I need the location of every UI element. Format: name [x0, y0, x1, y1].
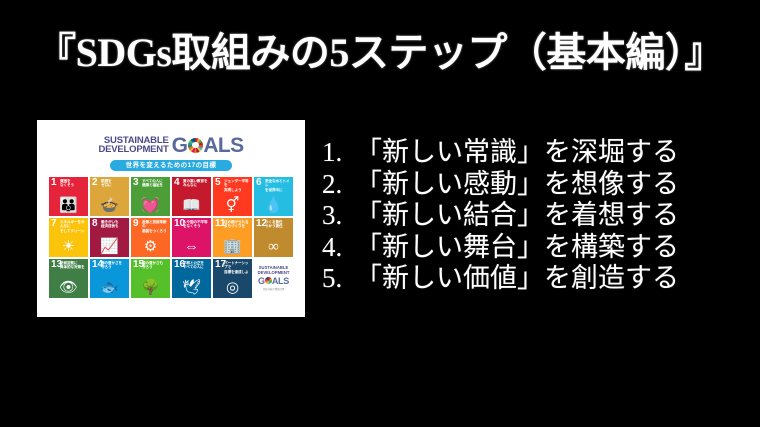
sdg-goal-17-icon: ◎ — [213, 280, 252, 296]
step-number: 3. — [322, 200, 355, 232]
step-text: 「新しい常識」を深堀する — [355, 137, 679, 169]
list-item: 4.「新しい舞台」を構築する — [322, 232, 722, 264]
page-title: 『SDGs取組みの5ステップ（基本編）』 — [0, 28, 760, 78]
step-number: 4. — [322, 232, 355, 264]
sdg-goal-number: 2 — [92, 178, 98, 188]
list-item: 2.「新しい感動」を想像する — [322, 169, 722, 201]
sdg-goal-13-icon: 👁 — [49, 280, 88, 296]
sdg-goal-title: すべての人に 健康と福祉を — [142, 179, 169, 188]
sdg-logo-tile-als: ALS — [272, 276, 289, 286]
sdg-goal-tile: 4質の高い教育を みんなに📖 — [172, 177, 211, 216]
step-text: 「新しい結合」を着想する — [355, 200, 679, 232]
sdg-logo-tile-fineprint: 持続可能な開発目標 — [263, 288, 285, 291]
sdg-goals-als: ALS — [203, 135, 243, 156]
sdg-goal-title: 働きがいも 経済成長も — [101, 220, 128, 229]
sdg-logo-wordmark: SUSTAINABLE DEVELOPMENT — [98, 136, 168, 155]
sdg-goal-title: 安全な水とトイレ を世界中に — [265, 179, 292, 192]
list-item: 1.「新しい常識」を深堀する — [322, 137, 722, 169]
sdg-goal-16-icon: 🕊 — [172, 280, 211, 296]
sdg-goal-title: 人や国の不平等 をなくそう — [183, 220, 210, 229]
step-text: 「新しい価値」を創造する — [355, 263, 679, 295]
sdg-goal-title: つくる責任 つかう責任 — [265, 220, 292, 229]
sdg-goal-title: 産業と技術革新の 基盤をつくろう — [142, 220, 169, 233]
sdg-goal-tile: 8働きがいも 経済成長も📈 — [90, 218, 129, 257]
sdg-goal-tile: 11住み続けられる まちづくりを🏢 — [213, 218, 252, 257]
sdg-goal-tile: 3すべての人に 健康と福祉を💓 — [131, 177, 170, 216]
sdg-goal-1-icon: 👪 — [49, 198, 88, 214]
sdg-goal-11-icon: 🏢 — [213, 239, 252, 255]
sdg-goal-title: エネルギーをみんなに そしてクリーンに — [60, 220, 87, 233]
sdg-goal-6-icon: 💧 — [254, 198, 293, 214]
sdg-goals-wordmark: G ALS — [172, 135, 244, 156]
sdg-logo: SUSTAINABLE DEVELOPMENT G ALS — [98, 134, 243, 156]
sdg-goal-tile: 14海の豊かさを 守ろう🐟 — [90, 259, 129, 298]
sdg-goal-title: 陸の豊かさも 守ろう — [142, 261, 169, 270]
sdg-goal-tile: 17パートナーシップで 目標を達成しよう◎ — [213, 259, 252, 298]
sdg-goal-tile: 10人や国の不平等 をなくそう⇔ — [172, 218, 211, 257]
sdg-goal-9-icon: ⚙ — [131, 239, 170, 255]
sdg-goal-tile: 12つくる責任 つかう責任∞ — [254, 218, 293, 257]
sdg-goal-title: 貧困を なくそう — [60, 179, 87, 188]
sdg-goal-4-icon: 📖 — [172, 198, 211, 214]
sdg-goal-tile: 13気候変動に 具体的な対策を👁 — [49, 259, 88, 298]
step-number: 2. — [322, 169, 355, 201]
sdg-poster-image: SUSTAINABLE DEVELOPMENT G ALS 世界を変えるための1… — [37, 120, 305, 317]
sdg-goal-grid: 1貧困を なくそう👪2飢餓を ゼロに🍲3すべての人に 健康と福祉を💓4質の高い教… — [49, 177, 293, 298]
step-text: 「新しい舞台」を構築する — [355, 232, 679, 264]
sdg-goals-g: G — [172, 135, 188, 156]
sdg-logo-tile: SUSTAINABLEDEVELOPMENTGALS持続可能な開発目標 — [254, 259, 293, 298]
sdg-goal-title: パートナーシップで 目標を達成しよう — [224, 261, 251, 274]
steps-list: 1.「新しい常識」を深堀する2.「新しい感動」を想像する3.「新しい結合」を着想… — [322, 137, 722, 295]
sdg-goal-title: 平和と公正を すべての人に — [183, 261, 210, 270]
sdg-goal-7-icon: ☀ — [49, 239, 88, 255]
sdg-goal-number: 8 — [92, 219, 98, 229]
sdg-goal-title: 質の高い教育を みんなに — [183, 179, 210, 188]
sdg-goal-8-icon: 📈 — [90, 239, 129, 255]
sdg-goal-title: 飢餓を ゼロに — [101, 179, 128, 188]
step-number: 5. — [322, 263, 355, 295]
sdg-goal-number: 4 — [174, 178, 180, 188]
sdg-goal-tile: 9産業と技術革新の 基盤をつくろう⚙ — [131, 218, 170, 257]
sdg-goal-title: 住み続けられる まちづくりを — [224, 220, 251, 229]
sdg-color-wheel-icon — [188, 138, 203, 153]
sdg-goal-number: 5 — [215, 178, 221, 188]
sdg-color-wheel-small-icon — [265, 277, 272, 284]
sdg-goal-15-icon: 🌳 — [131, 280, 170, 296]
sdg-logo-line2: DEVELOPMENT — [98, 145, 168, 155]
sdg-goal-title: 海の豊かさを 守ろう — [101, 261, 128, 270]
sdg-goal-tile: 7エネルギーをみんなに そしてクリーンに☀ — [49, 218, 88, 257]
list-item: 5.「新しい価値」を創造する — [322, 263, 722, 295]
sdg-goal-tile: 6安全な水とトイレ を世界中に💧 — [254, 177, 293, 216]
sdg-goal-12-icon: ∞ — [254, 239, 293, 255]
sdg-goal-number: 7 — [51, 219, 57, 229]
sdg-goal-title: 気候変動に 具体的な対策を — [60, 261, 87, 270]
sdg-goal-tile: 1貧困を なくそう👪 — [49, 177, 88, 216]
sdg-goal-3-icon: 💓 — [131, 198, 170, 214]
step-number: 1. — [322, 137, 355, 169]
sdg-goal-10-icon: ⇔ — [172, 239, 211, 255]
step-text: 「新しい感動」を想像する — [355, 169, 679, 201]
sdg-goal-tile: 15陸の豊かさも 守ろう🌳 — [131, 259, 170, 298]
sdg-goal-5-icon: ⚥ — [213, 198, 252, 214]
sdg-goal-tile: 5ジェンダー平等を 実現しよう⚥ — [213, 177, 252, 216]
sdg-goal-tile: 16平和と公正を すべての人に🕊 — [172, 259, 211, 298]
sdg-goal-number: 3 — [133, 178, 139, 188]
sdg-goal-number: 6 — [256, 178, 262, 188]
sdg-logo-tile-goals: GALS — [258, 276, 289, 286]
sdg-banner: 世界を変えるための17の目標 — [110, 160, 233, 171]
sdg-goal-title: ジェンダー平等を 実現しよう — [224, 179, 251, 192]
list-item: 3.「新しい結合」を着想する — [322, 200, 722, 232]
sdg-logo-tile-g: G — [258, 276, 265, 286]
sdg-goal-number: 9 — [133, 219, 139, 229]
sdg-goal-tile: 2飢餓を ゼロに🍲 — [90, 177, 129, 216]
presentation-slide: 『SDGs取組みの5ステップ（基本編）』 SUSTAINABLE DEVELOP… — [0, 0, 760, 427]
sdg-goal-number: 1 — [51, 178, 57, 188]
sdg-goal-2-icon: 🍲 — [90, 198, 129, 214]
sdg-goal-14-icon: 🐟 — [90, 280, 129, 296]
